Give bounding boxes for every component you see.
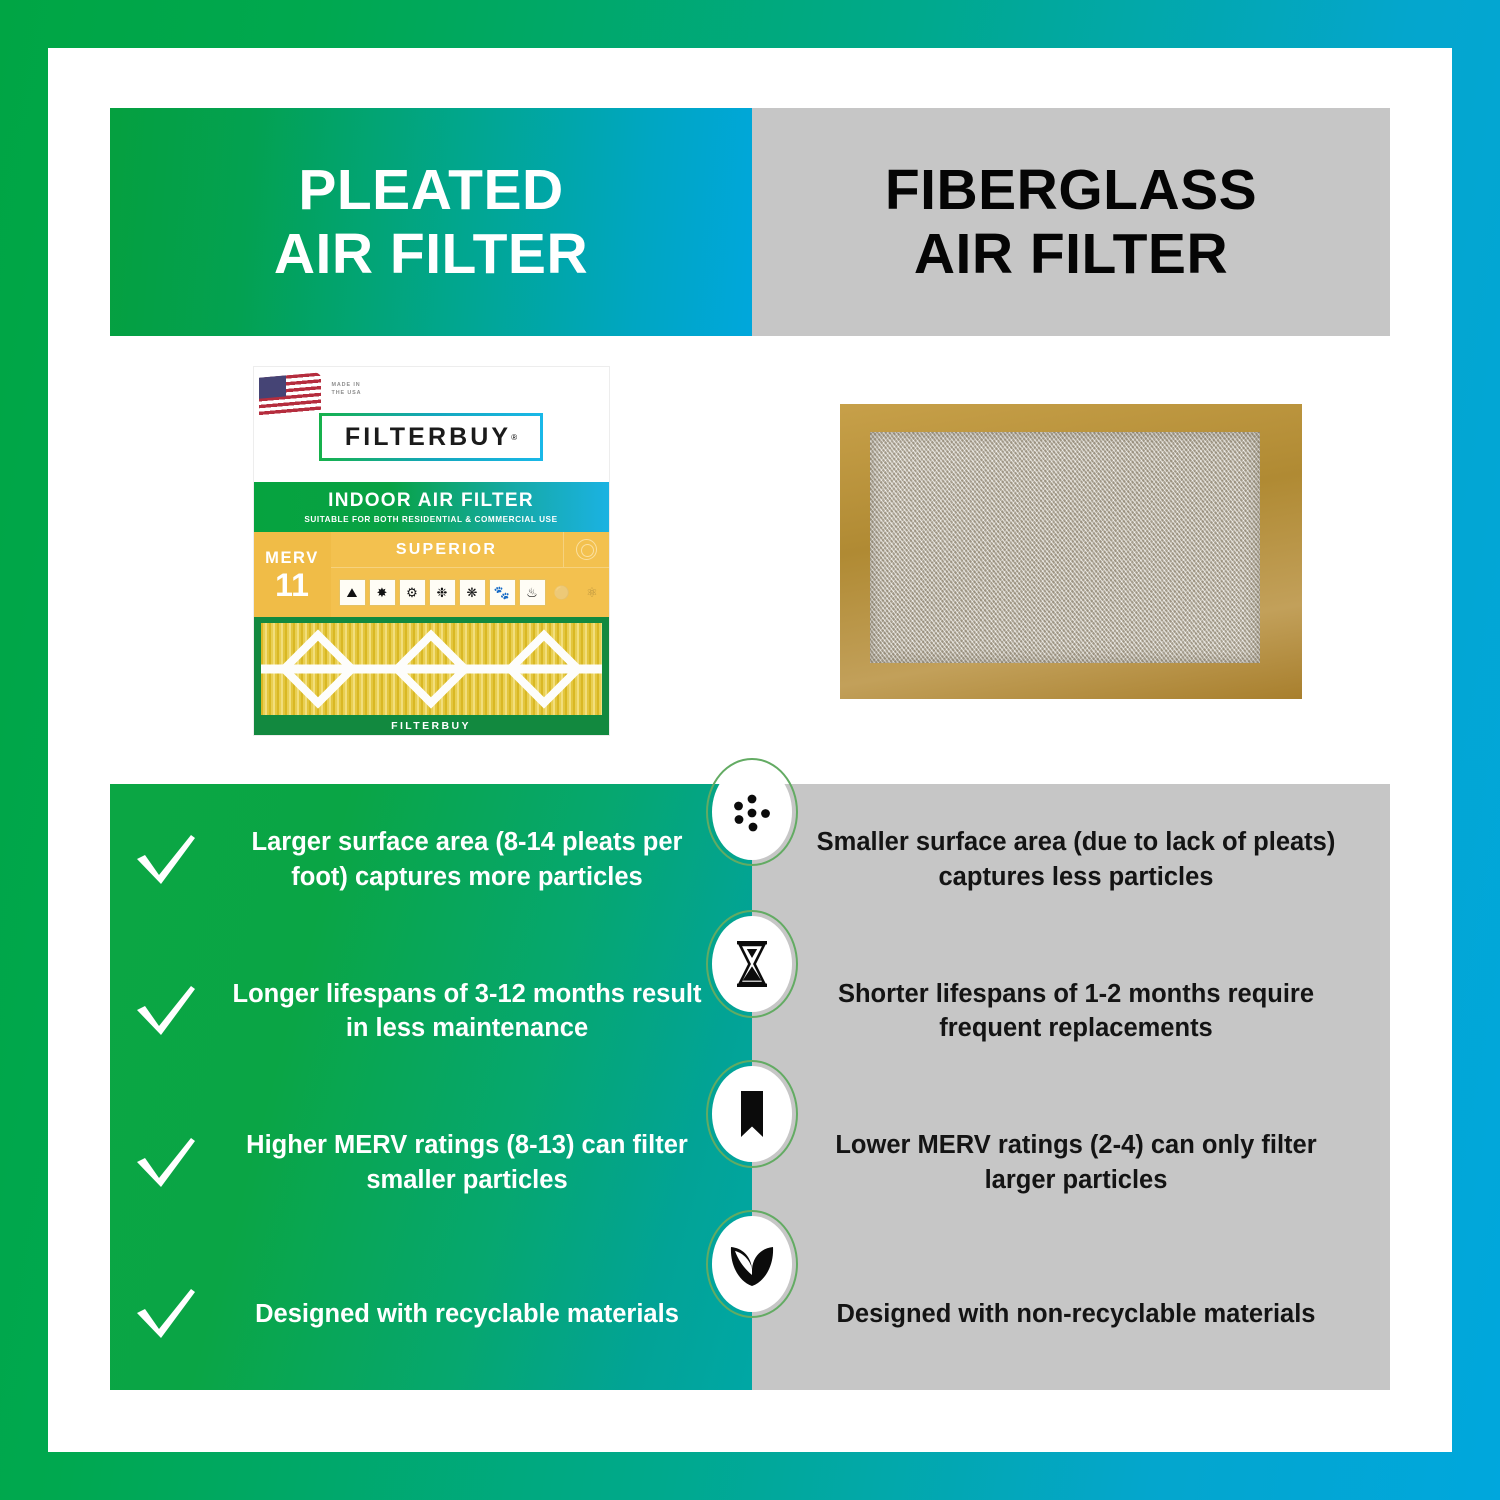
header-row: PLEATED AIR FILTER FIBERGLASS AIR FILTER — [110, 108, 1390, 336]
fiberglass-drawback-text: Shorter lifespans of 1-2 months require … — [752, 977, 1390, 1046]
header-pleated-line1: PLEATED — [298, 158, 563, 222]
merv-right-panel: SUPERIOR ⛰ ✸ ⚙ ❉ ❋ 🐾 — [331, 532, 609, 617]
certification-mark-icon — [576, 539, 597, 560]
fiberglass-drawback-text: Smaller surface area (due to lack of ple… — [752, 825, 1390, 894]
dust-icon: ⛰ — [339, 579, 366, 606]
header-pleated-title: PLEATED AIR FILTER — [274, 158, 588, 287]
box-band-title: INDOOR AIR FILTER — [328, 490, 534, 512]
pleated-benefit-text: Designed with recyclable materials — [222, 1297, 752, 1331]
header-pleated-line2: AIR FILTER — [274, 222, 588, 286]
bacteria-icon-disabled: ⚛ — [579, 579, 606, 606]
fiberglass-drawback-text: Designed with non-recyclable materials — [752, 1297, 1390, 1331]
table-row: Higher MERV ratings (8-13) can filter sm… — [110, 1087, 752, 1239]
fiberglass-rows: Smaller surface area (due to lack of ple… — [752, 784, 1390, 1390]
pollen-icon: ⚙ — [399, 579, 426, 606]
pleated-benefit-text: Larger surface area (8-14 pleats per foo… — [222, 825, 752, 894]
comparison-table: Larger surface area (8-14 pleats per foo… — [110, 784, 1390, 1390]
trademark-symbol: ® — [511, 433, 517, 442]
header-fiberglass-line1: FIBERGLASS — [885, 158, 1257, 222]
header-pleated: PLEATED AIR FILTER — [110, 108, 752, 336]
virus-icon-disabled: ⚪ — [549, 579, 576, 606]
product-image-row: MADE IN THE USA FILTERBUY® INDOOR AIR FI… — [110, 336, 1390, 766]
table-row: Smaller surface area (due to lack of ple… — [752, 784, 1390, 936]
header-fiberglass-line2: AIR FILTER — [914, 222, 1228, 286]
bacteria-icon: ❋ — [459, 579, 486, 606]
checkmark-icon — [110, 1136, 222, 1190]
support-diamond — [504, 629, 583, 708]
made-in-line2: THE USA — [332, 390, 362, 396]
pet-dander-icon: 🐾 — [489, 579, 516, 606]
fiberglass-filter-image — [840, 404, 1302, 699]
support-grid — [261, 623, 602, 715]
checkmark-icon — [110, 833, 222, 887]
pleated-benefits-column: Larger surface area (8-14 pleats per foo… — [110, 784, 752, 1390]
usa-flag-icon — [259, 372, 321, 417]
filter-footer-brand: FILTERBUY — [254, 720, 609, 732]
support-diamond — [279, 629, 358, 708]
merv-value: 11 — [275, 569, 309, 601]
table-row: Shorter lifespans of 1-2 months require … — [752, 936, 1390, 1088]
table-row: Designed with recyclable materials — [110, 1239, 752, 1391]
infographic-card: PLEATED AIR FILTER FIBERGLASS AIR FILTER — [48, 48, 1452, 1452]
outer-gradient-border: PLEATED AIR FILTER FIBERGLASS AIR FILTER — [0, 0, 1500, 1500]
pleated-filter-box-image: MADE IN THE USA FILTERBUY® INDOOR AIR FI… — [254, 367, 609, 735]
table-row: Longer lifespans of 3-12 months result i… — [110, 936, 752, 1088]
mite-icon: ✸ — [369, 579, 396, 606]
mold-icon: ❉ — [429, 579, 456, 606]
fiberglass-drawback-text: Lower MERV ratings (2-4) can only filter… — [752, 1128, 1390, 1197]
table-row: Lower MERV ratings (2-4) can only filter… — [752, 1087, 1390, 1239]
support-diamond — [391, 629, 470, 708]
pleated-benefit-text: Higher MERV ratings (8-13) can filter sm… — [222, 1128, 752, 1197]
filterbuy-wordmark: FILTERBUY — [345, 423, 511, 452]
made-in-usa-label: MADE IN THE USA — [332, 381, 362, 397]
fiberglass-media — [870, 432, 1260, 663]
certification-seal — [563, 532, 609, 568]
checkmark-icon — [110, 1287, 222, 1341]
checkmark-icon — [110, 984, 222, 1038]
made-in-line1: MADE IN — [332, 382, 361, 388]
merv-badge: MERV 11 — [254, 532, 331, 617]
tier-label: SUPERIOR — [331, 541, 563, 559]
pleated-rows: Larger surface area (8-14 pleats per foo… — [110, 784, 752, 1390]
smoke-icon: ♨ — [519, 579, 546, 606]
pleated-benefit-text: Longer lifespans of 3-12 months result i… — [222, 977, 752, 1046]
filterbuy-logo: FILTERBUY® — [319, 413, 543, 461]
pleated-media-view: FILTERBUY — [254, 617, 609, 735]
pleated-product-cell: MADE IN THE USA FILTERBUY® INDOOR AIR FI… — [110, 336, 752, 766]
tier-row: SUPERIOR — [331, 532, 609, 568]
box-merv-row: MERV 11 SUPERIOR ⛰ — [254, 532, 609, 617]
box-indoor-band: INDOOR AIR FILTER SUITABLE FOR BOTH RESI… — [254, 482, 609, 532]
table-row: Designed with non-recyclable materials — [752, 1239, 1390, 1391]
capability-icon-strip: ⛰ ✸ ⚙ ❉ ❋ 🐾 ♨ ⚪ ⚛ — [331, 568, 609, 617]
fiberglass-drawbacks-column: Smaller surface area (due to lack of ple… — [752, 784, 1390, 1390]
merv-label: MERV — [265, 549, 319, 568]
header-fiberglass: FIBERGLASS AIR FILTER — [752, 108, 1390, 336]
header-fiberglass-title: FIBERGLASS AIR FILTER — [885, 158, 1257, 287]
box-top-panel: MADE IN THE USA FILTERBUY® — [254, 367, 609, 482]
box-band-subtitle: SUITABLE FOR BOTH RESIDENTIAL & COMMERCI… — [304, 515, 557, 524]
table-row: Larger surface area (8-14 pleats per foo… — [110, 784, 752, 936]
fiberglass-product-cell — [752, 336, 1390, 766]
